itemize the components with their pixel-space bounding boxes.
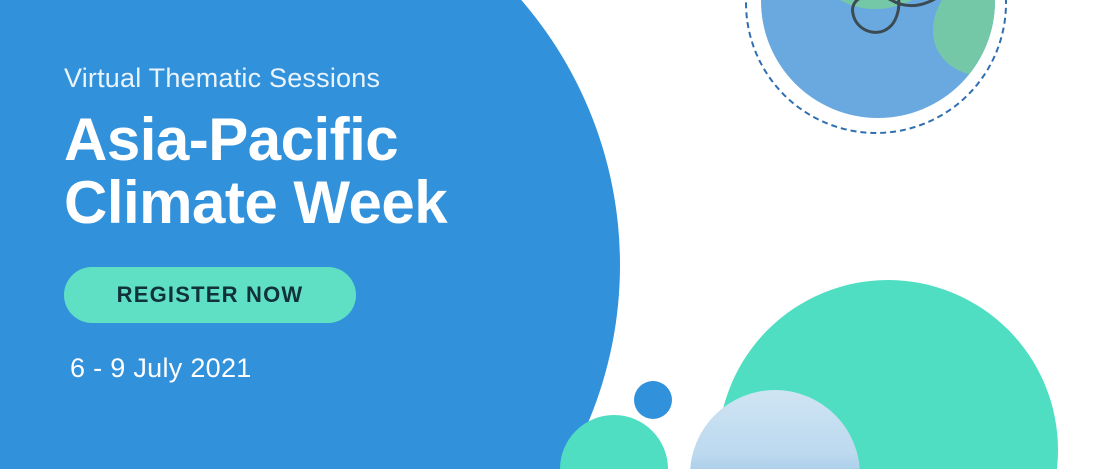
event-banner: Virtual Thematic Sessions Asia-Pacific C… xyxy=(0,0,1100,469)
register-now-button[interactable]: REGISTER NOW xyxy=(64,267,356,323)
banner-kicker: Virtual Thematic Sessions xyxy=(64,64,584,94)
banner-title: Asia-Pacific Climate Week xyxy=(64,108,584,235)
banner-dates: 6 - 9 July 2021 xyxy=(70,353,584,384)
banner-content: Virtual Thematic Sessions Asia-Pacific C… xyxy=(64,64,584,384)
globe-route-lines-icon xyxy=(745,0,1007,134)
globe-illustration xyxy=(745,0,1007,134)
blue-dot-circle xyxy=(634,381,672,419)
